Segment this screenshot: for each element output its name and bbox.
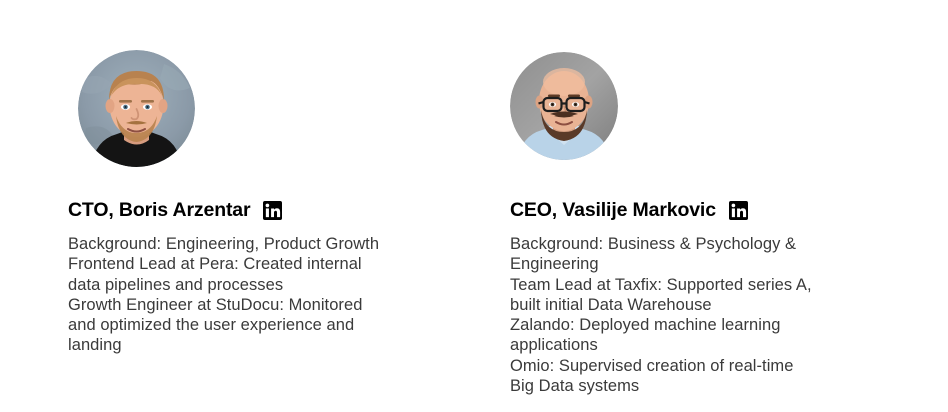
bio-line: data pipelines and processes xyxy=(68,275,413,295)
bio-line: Big Data systems xyxy=(510,376,862,396)
linkedin-icon[interactable] xyxy=(263,201,282,220)
member-name-row: CTO, Boris Arzentar xyxy=(68,197,282,223)
member-bio: Background: Engineering, Product Growth … xyxy=(68,234,413,356)
member-name: CEO, Vasilije Markovic xyxy=(510,197,716,223)
bio-line: and optimized the user experience and xyxy=(68,315,413,335)
avatar xyxy=(78,50,195,167)
member-bio: Background: Business & Psychology & Engi… xyxy=(510,234,862,396)
team-member-card: CEO, Vasilije Markovic Background: Busin… xyxy=(510,0,910,412)
bio-line: Background: Business & Psychology & xyxy=(510,234,862,254)
bio-line: landing xyxy=(68,335,413,355)
bio-line: Omio: Supervised creation of real-time xyxy=(510,356,862,376)
team-member-card: CTO, Boris Arzentar Background: Engineer… xyxy=(68,0,468,412)
bio-line: Team Lead at Taxfix: Supported series A, xyxy=(510,275,862,295)
team-members-section: CTO, Boris Arzentar Background: Engineer… xyxy=(0,0,948,412)
linkedin-icon[interactable] xyxy=(729,201,748,220)
bio-line: Frontend Lead at Pera: Created internal xyxy=(68,254,413,274)
bio-line: built initial Data Warehouse xyxy=(510,295,862,315)
bio-line: Engineering xyxy=(510,254,862,274)
bio-line: Background: Engineering, Product Growth xyxy=(68,234,413,254)
avatar xyxy=(510,52,618,160)
member-name-row: CEO, Vasilije Markovic xyxy=(510,197,748,223)
bio-line: Zalando: Deployed machine learning xyxy=(510,315,862,335)
bio-line: Growth Engineer at StuDocu: Monitored xyxy=(68,295,413,315)
bio-line: applications xyxy=(510,335,862,355)
member-name: CTO, Boris Arzentar xyxy=(68,197,250,223)
